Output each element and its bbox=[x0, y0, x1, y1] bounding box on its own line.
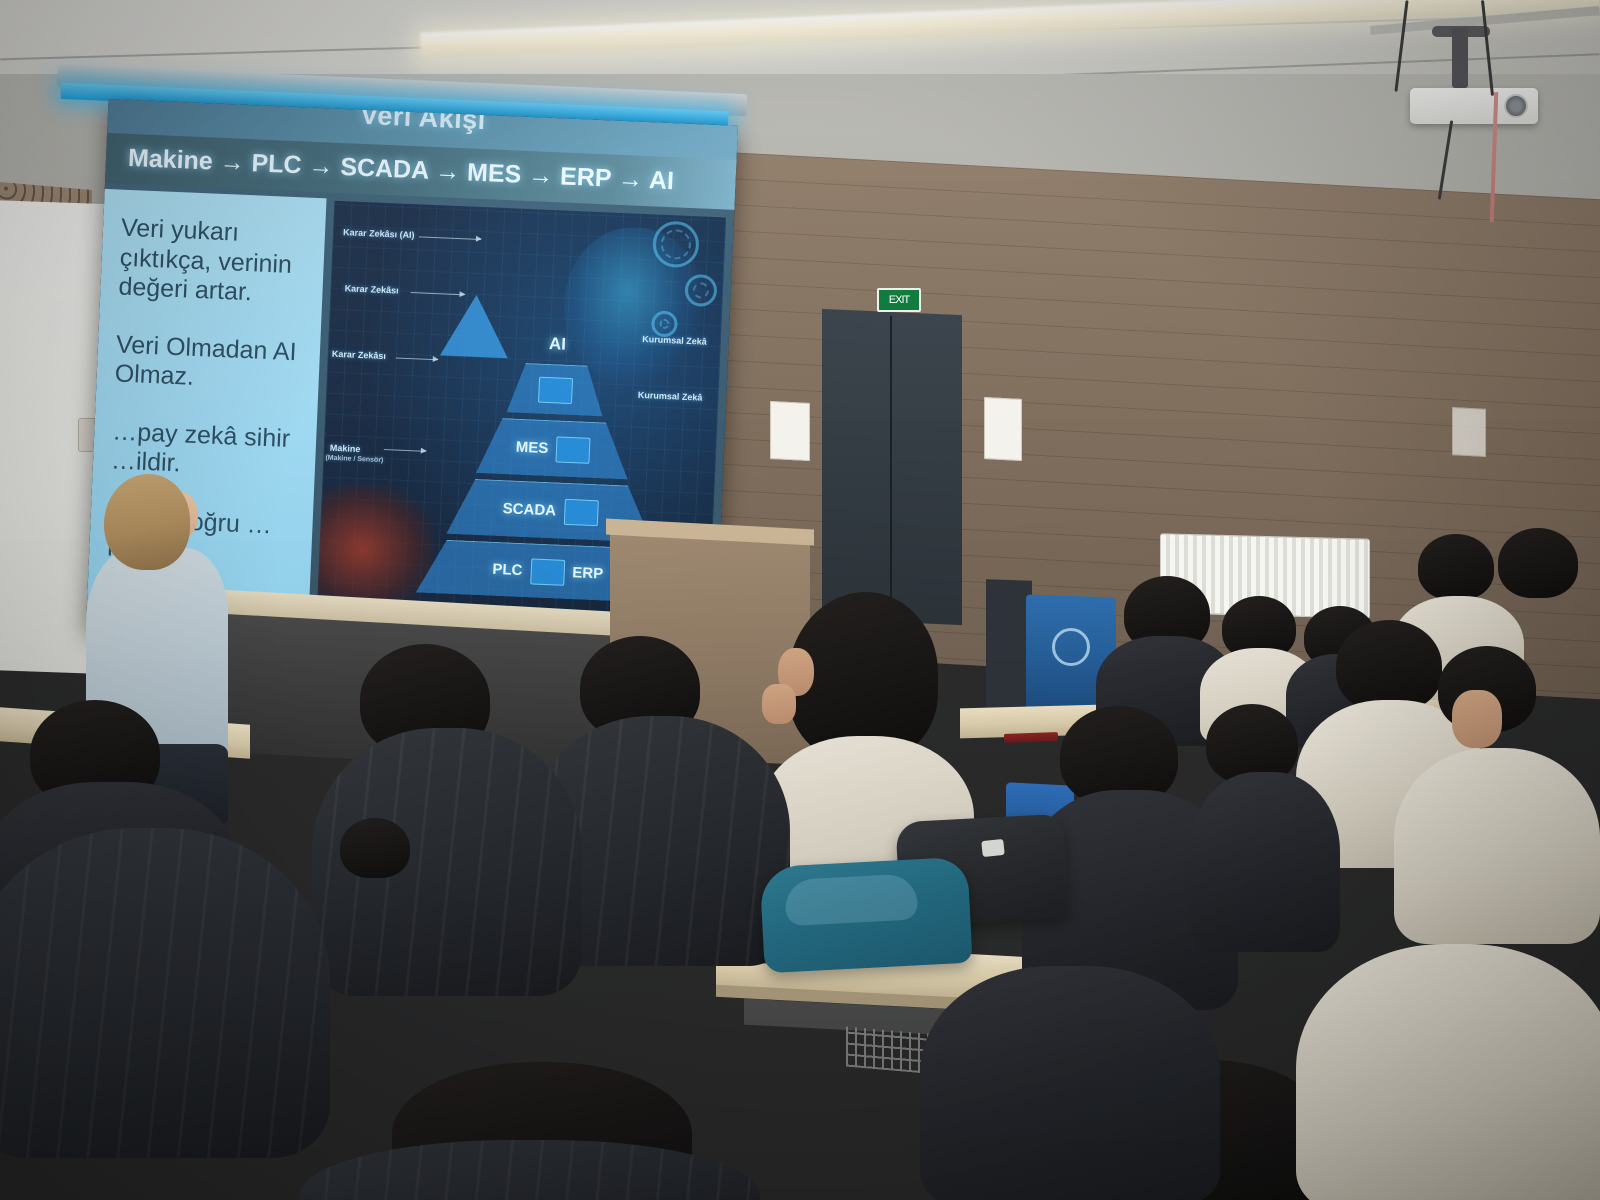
pyramid-layer-label-ai: AI bbox=[549, 334, 567, 355]
projector-lens-icon bbox=[1504, 94, 1528, 118]
slide-bullet: Veri Olmadan AI Olmaz. bbox=[114, 330, 306, 397]
wall-notice bbox=[770, 401, 810, 461]
student-head bbox=[340, 818, 410, 878]
student-body bbox=[0, 828, 330, 1158]
diagram-annotation: Makine bbox=[330, 443, 361, 454]
student-body bbox=[1296, 944, 1600, 1200]
student-head bbox=[1498, 528, 1578, 598]
student-body bbox=[1394, 748, 1600, 944]
student-hand bbox=[762, 684, 796, 724]
projector-mount-arm bbox=[1452, 28, 1468, 88]
pyramid-layer-label-erp: ERP bbox=[572, 564, 604, 582]
classroom-scene: EXIT Veri Akışı Makine → PLC → SCADA → M… bbox=[0, 0, 1600, 1200]
student-head bbox=[1336, 620, 1442, 712]
dark-double-door[interactable] bbox=[822, 309, 962, 625]
pyramid-layer-label-scada: SCADA bbox=[502, 500, 556, 519]
wall-notice bbox=[1452, 407, 1486, 457]
pyramid-apex bbox=[440, 293, 511, 358]
presenter-hair bbox=[104, 474, 190, 570]
monitor-icon bbox=[538, 376, 573, 403]
door-seam bbox=[890, 316, 892, 616]
exit-sign: EXIT bbox=[877, 288, 921, 312]
student-body bbox=[1190, 772, 1340, 952]
pyramid-layer-label-mes: MES bbox=[515, 439, 548, 457]
student-face bbox=[1452, 690, 1502, 748]
red-pencil-case[interactable] bbox=[1004, 732, 1058, 743]
teal-backpack[interactable] bbox=[759, 857, 972, 974]
recycle-icon bbox=[1052, 628, 1090, 666]
slide-bullet: Veri yukarı çıktıkça, verinin değeri art… bbox=[118, 214, 312, 311]
pyramid-layer-mes: MES bbox=[476, 417, 630, 479]
pyramid-layer-2 bbox=[507, 362, 605, 416]
exit-sign-label: EXIT bbox=[889, 294, 909, 306]
backpack-tag bbox=[981, 839, 1005, 857]
student-head bbox=[1418, 534, 1494, 600]
globe-monitor-icon bbox=[556, 436, 591, 463]
wall-notice bbox=[984, 397, 1022, 461]
plc-icon bbox=[530, 558, 565, 585]
pyramid-layer-label-plc: PLC bbox=[492, 561, 523, 579]
hmi-icon bbox=[563, 498, 598, 525]
student-body bbox=[920, 966, 1220, 1200]
